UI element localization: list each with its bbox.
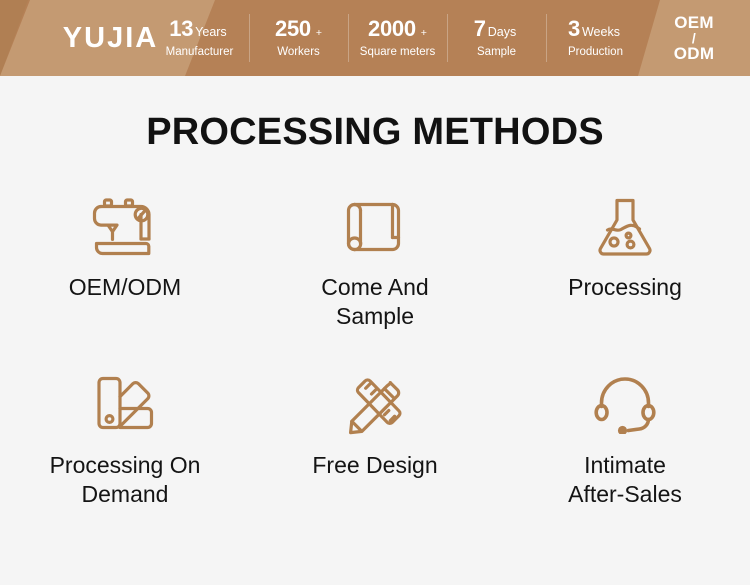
stat-plus: + [421,28,427,39]
method-card-oem-odm: OEM/ODM [0,189,250,367]
stat-caption: Sample [477,47,516,59]
method-label: Come And Sample [321,273,428,332]
method-label: Processing [568,273,682,302]
badge-slash: / [692,31,696,45]
headset-icon [589,371,661,439]
stat-value-row: 7 Days [474,18,519,40]
stat-value-row: 3 Weeks [568,18,623,40]
stat-caption: Workers [277,47,320,59]
stat-value-row: 250 + [275,18,322,40]
pencil-ruler-icon [339,371,411,439]
company-logo: YUJIA [0,0,215,76]
method-card-free-design: Free Design [250,367,500,545]
stat-number: 7 [474,18,486,40]
stat-number: 250 [275,18,311,40]
method-label: Processing On Demand [50,451,201,510]
method-label: Intimate After-Sales [568,451,682,510]
method-label: OEM/ODM [69,273,181,302]
oem-odm-badge: OEM / ODM [638,0,750,76]
stat-unit: Weeks [582,26,620,39]
method-card-processing: Processing [500,189,750,367]
stat-unit: Days [488,26,516,39]
method-card-come-and-sample: Come And Sample [250,189,500,367]
page-title: PROCESSING METHODS [0,111,750,154]
processing-methods-grid: OEM/ODM Come And Sample [0,189,750,545]
stat-number: 2000 [368,18,416,40]
stat-number: 3 [568,18,580,40]
oem-label: OEM [674,14,714,31]
stat-item-production: 3 Weeks Production [546,10,645,66]
stat-item-workers: 250 + Workers [249,10,348,66]
sewing-machine-icon [89,193,161,261]
stat-caption: Square meters [360,47,435,59]
stat-item-area: 2000 + Square meters [348,10,447,66]
method-card-processing-on-demand: Processing On Demand [0,367,250,545]
method-card-intimate-after-sales: Intimate After-Sales [500,367,750,545]
fabric-roll-icon [339,193,411,261]
stat-caption: Production [568,47,623,59]
header-stats-group: 13 Years Manufacturer 250 + Workers 2000… [150,0,645,76]
flask-icon [589,193,661,261]
odm-label: ODM [674,45,715,62]
stat-item-sample: 7 Days Sample [447,10,546,66]
company-header-bar: YUJIA 13 Years Manufacturer 250 + Worker… [0,0,750,76]
stat-value-row: 2000 + [368,18,427,40]
color-swatch-icon [89,371,161,439]
stat-plus: + [316,28,322,39]
method-label: Free Design [312,451,437,480]
